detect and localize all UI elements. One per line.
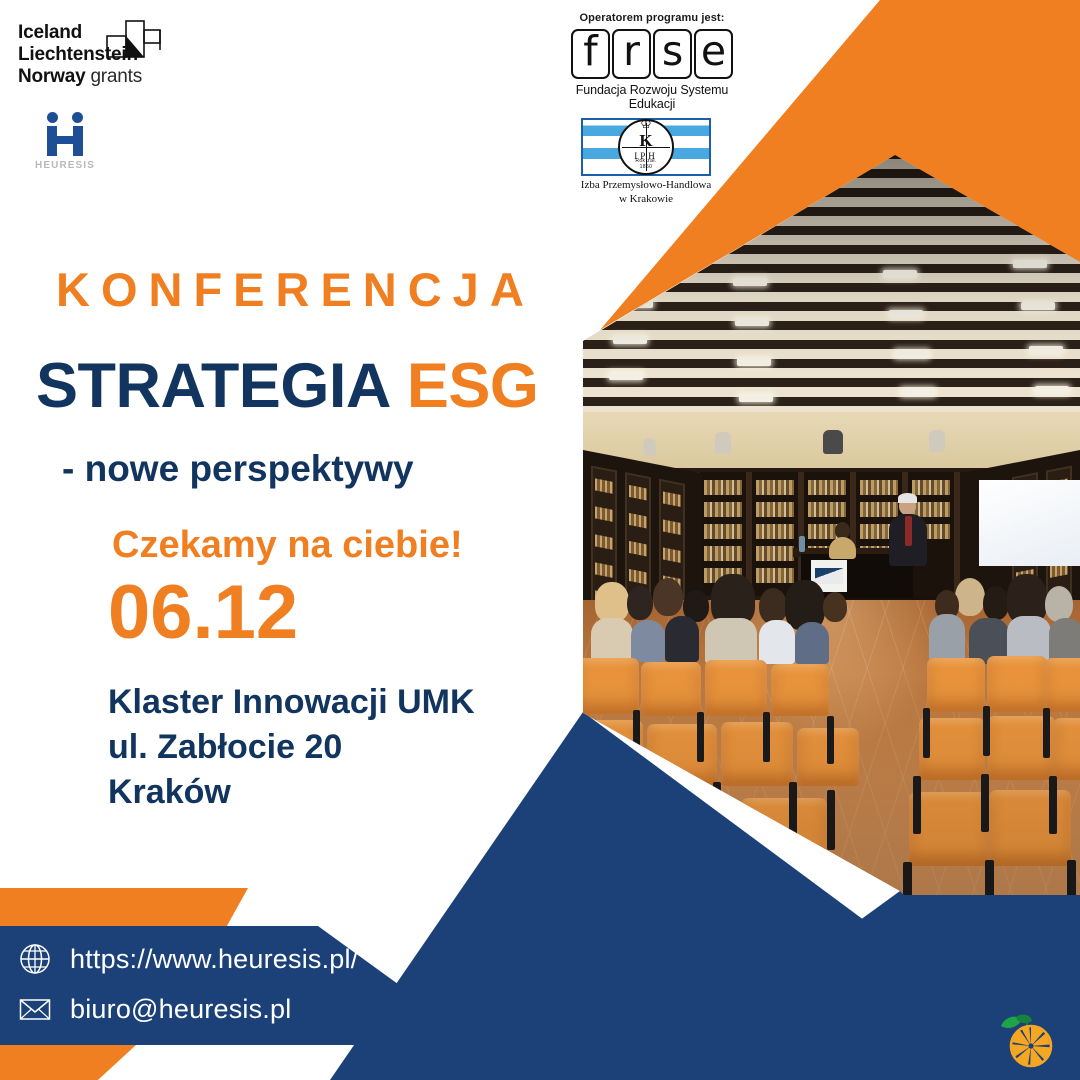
frse-letter-s: s: [653, 29, 692, 79]
event-date: 06.12: [108, 575, 298, 651]
banner-orange-top-slant: [204, 888, 248, 926]
email-address[interactable]: biuro@heuresis.pl: [70, 994, 291, 1025]
banner-orange-top: [0, 888, 226, 926]
frse-full-name: Fundacja Rozwoju Systemu Edukacji: [552, 83, 752, 111]
frse-letter-r: r: [612, 29, 651, 79]
heuresis-h-mark: [42, 112, 88, 156]
grants-line-3: Norwaygrants: [18, 66, 188, 88]
event-address: Klaster Innowacji UMK ul. Zabłocie 20 Kr…: [108, 680, 475, 816]
event-city: Kraków: [108, 770, 475, 815]
frse-logo: Operatorem programu jest: f r s e Fundac…: [552, 12, 752, 111]
crown-icon: ♔: [640, 117, 652, 130]
page-title: STRATEGIAESG: [36, 355, 538, 418]
cta-text: Czekamy na ciebie!: [112, 524, 463, 567]
heuresis-logo: HEURESIS: [30, 112, 100, 171]
iph-founded: Rok zał. 1850: [633, 158, 659, 170]
iph-krakow-logo: ♔ K IPH Rok zał. 1850 Izba Przemysłowo-H…: [560, 118, 732, 207]
orange-slice-logo: [995, 1008, 1057, 1070]
frse-letter-e: e: [694, 29, 733, 79]
website-url[interactable]: https://www.heuresis.pl/: [70, 944, 358, 975]
event-street: ul. Zabłocie 20: [108, 725, 475, 770]
iph-monogram: K: [639, 131, 652, 151]
banner-orange-bottom: [0, 1045, 136, 1080]
frse-letter-f: f: [571, 29, 610, 79]
title-strategia: STRATEGIA: [36, 351, 391, 421]
event-venue: Klaster Innowacji UMK: [108, 680, 475, 725]
subtitle: - nowe perspektywy: [62, 448, 414, 490]
frse-operator-text: Operatorem programu jest:: [552, 12, 752, 24]
iph-caption-line-1: Izba Przemysłowo-Handlowa: [560, 179, 732, 193]
grants-grants: grants: [90, 66, 142, 87]
poster-canvas: Iceland Liechtenstein Norwaygrants HEURE…: [0, 0, 1080, 1080]
grants-norway: Norway: [18, 66, 85, 87]
kicker-konferencja: KONFERENCJA: [56, 262, 535, 317]
iph-caption: Izba Przemysłowo-Handlowa w Krakowie: [560, 179, 732, 207]
contact-website-row[interactable]: https://www.heuresis.pl/: [18, 942, 358, 976]
envelope-icon: [18, 992, 52, 1026]
frse-letters-mark: f r s e: [552, 29, 752, 79]
heuresis-label: HEURESIS: [30, 160, 100, 171]
iph-caption-line-2: w Krakowie: [560, 193, 732, 207]
norway-grants-mark: [106, 20, 168, 58]
title-esg: ESG: [407, 351, 539, 421]
iph-emblem: ♔ K IPH Rok zał. 1850: [581, 118, 711, 176]
contact-email-row[interactable]: biuro@heuresis.pl: [18, 992, 291, 1026]
globe-icon: [18, 942, 52, 976]
norway-grants-logo: Iceland Liechtenstein Norwaygrants: [18, 22, 188, 89]
